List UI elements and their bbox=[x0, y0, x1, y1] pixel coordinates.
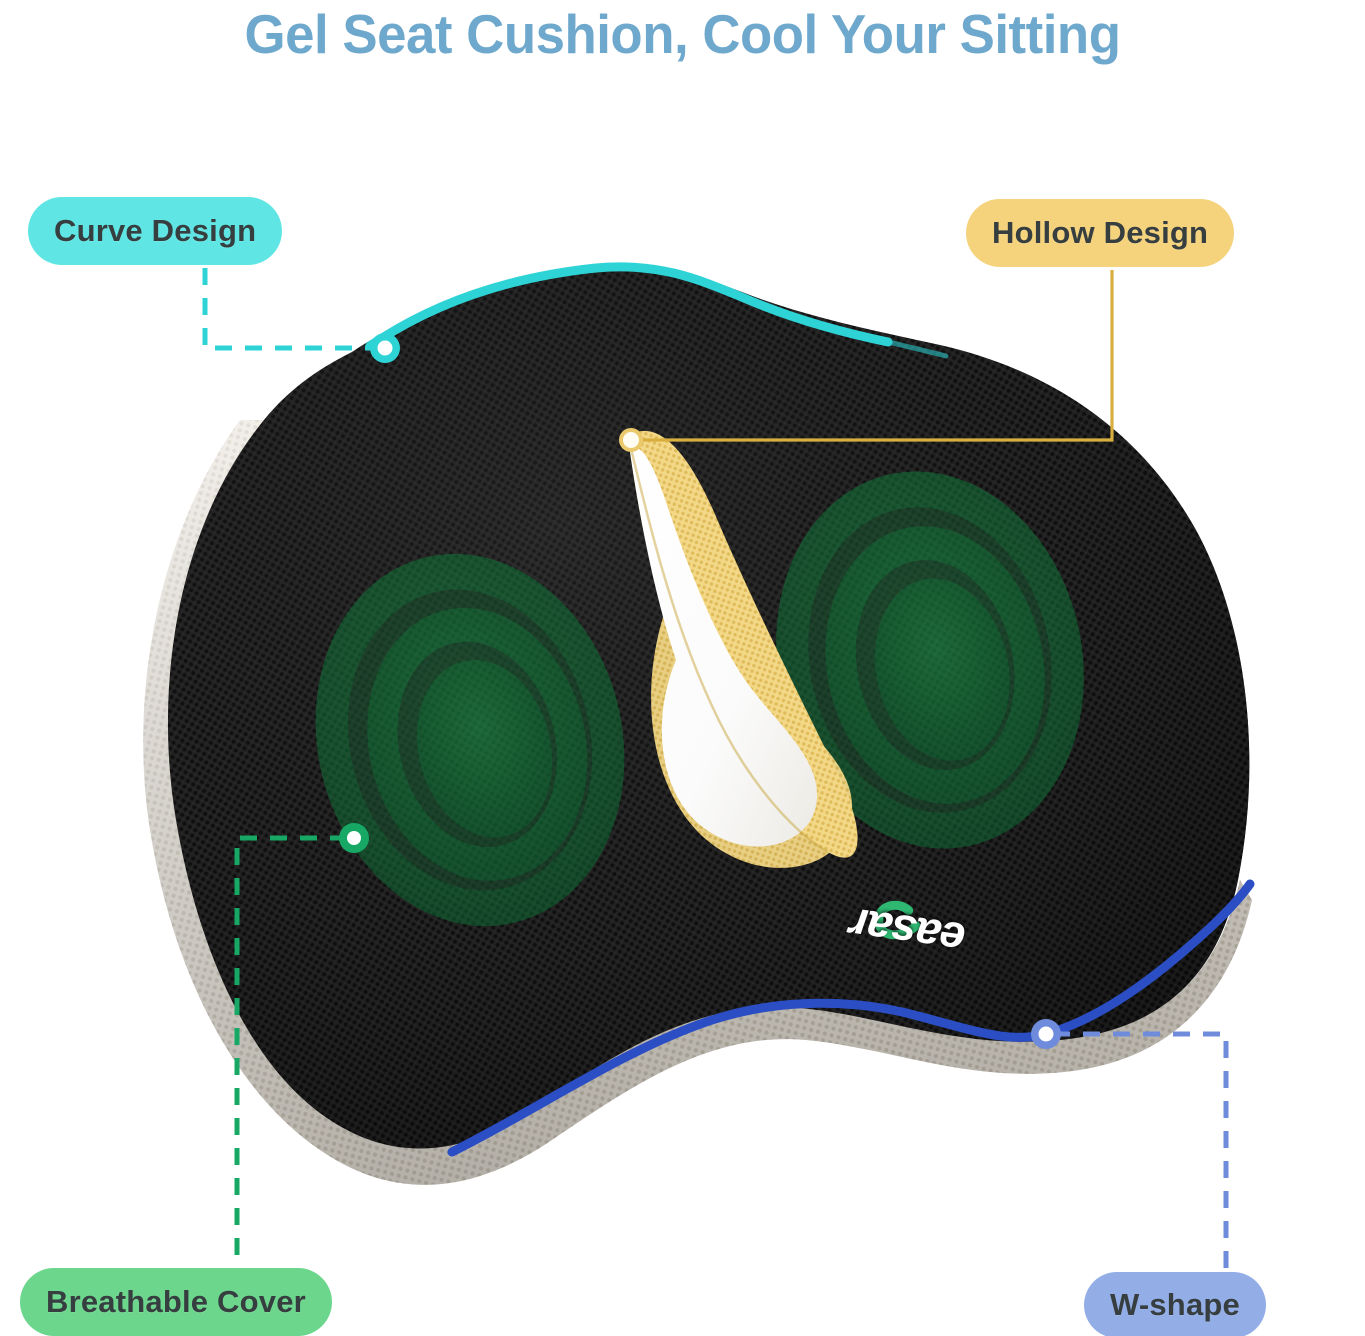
connector-curve-design bbox=[205, 268, 400, 363]
callout-badge-curve-design[interactable]: Curve Design bbox=[28, 197, 282, 265]
callout-badge-hollow-design[interactable]: Hollow Design bbox=[966, 199, 1234, 267]
infographic-page: Gel Seat Cushion, Cool Your Sitting bbox=[0, 0, 1365, 1336]
callout-badge-w-shape[interactable]: W-shape bbox=[1084, 1272, 1266, 1336]
callout-badge-breathable-cover[interactable]: Breathable Cover bbox=[20, 1268, 332, 1336]
